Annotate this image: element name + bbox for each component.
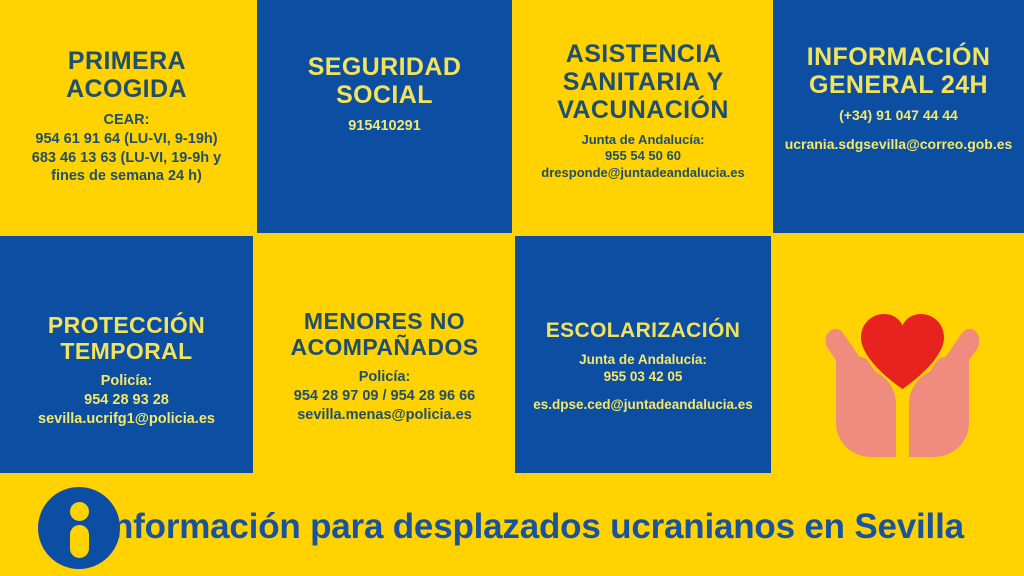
card-primera-acogida: PRIMERA ACOGIDA CEAR: 954 61 91 64 (LU-V… xyxy=(0,0,253,233)
card-content: PRIMERA ACOGIDA CEAR: 954 61 91 64 (LU-V… xyxy=(8,47,245,185)
poster-root: PRIMERA ACOGIDA CEAR: 954 61 91 64 (LU-V… xyxy=(0,0,1024,576)
card-body: Policía: 954 28 97 09 / 954 28 96 66 sev… xyxy=(265,368,504,424)
card-body-line: 954 28 93 28 xyxy=(8,391,245,410)
card-body-line: ucrania.sdgsevilla@correo.gob.es xyxy=(781,136,1016,154)
card-content: PROTECCIÓN TEMPORAL Policía: 954 28 93 2… xyxy=(8,313,245,428)
card-body: Junta de Andalucía: 955 03 42 05 es.dpse… xyxy=(533,351,753,414)
card-title-line: GENERAL 24H xyxy=(809,71,988,99)
card-body-line: 954 61 91 64 (LU-VI, 9-19h) xyxy=(8,130,245,149)
card-body-line: Policía: xyxy=(265,368,504,387)
card-body: (+34) 91 047 44 44 ucrania.sdgsevilla@co… xyxy=(781,107,1016,154)
card-content: SEGURIDAD SOCIAL 915410291 xyxy=(265,53,504,136)
card-body-line: sevilla.ucrifg1@policia.es xyxy=(8,410,245,429)
card-title: MENORES NO ACOMPAÑADOS xyxy=(265,309,504,361)
card-body-line: 683 46 13 63 (LU-VI, 19-9h y xyxy=(8,149,245,168)
card-content: ASISTENCIA SANITARIA Y VACUNACIÓN Junta … xyxy=(523,40,763,182)
card-body-line: 955 03 42 05 xyxy=(533,368,753,385)
card-title: ASISTENCIA SANITARIA Y VACUNACIÓN xyxy=(523,40,763,124)
card-title-line: PROTECCIÓN xyxy=(48,312,205,338)
card-body-line: Junta de Andalucía: xyxy=(533,351,753,368)
card-seguridad-social: SEGURIDAD SOCIAL 915410291 xyxy=(257,0,512,233)
card-body-line: 954 28 97 09 / 954 28 96 66 xyxy=(265,387,504,406)
card-body: 915410291 xyxy=(265,117,504,136)
card-title-line: ESCOLARIZACIÓN xyxy=(546,319,741,342)
card-title-line: SEGURIDAD xyxy=(308,53,462,81)
banner-headline: nformación para desplazados ucranianos e… xyxy=(112,509,964,544)
card-title-line: SOCIAL xyxy=(336,81,433,109)
card-body-line: Junta de Andalucía: xyxy=(523,132,763,149)
hands-holding-heart-icon xyxy=(800,300,1005,472)
card-title-line: MENORES NO xyxy=(304,308,465,334)
card-title-line: ACOMPAÑADOS xyxy=(291,334,479,360)
card-body-line: Policía: xyxy=(8,372,245,391)
info-circle-icon xyxy=(38,487,120,569)
card-menores-no-acompanados: MENORES NO ACOMPAÑADOS Policía: 954 28 9… xyxy=(257,236,512,473)
card-escolarizacion: ESCOLARIZACIÓN Junta de Andalucía: 955 0… xyxy=(515,236,771,473)
info-icon-stem xyxy=(70,525,89,558)
card-body-line: 955 54 50 60 xyxy=(523,148,763,165)
info-icon-dot xyxy=(70,502,89,521)
card-content: ESCOLARIZACIÓN Junta de Andalucía: 955 0… xyxy=(533,319,753,413)
card-body: CEAR: 954 61 91 64 (LU-VI, 9-19h) 683 46… xyxy=(8,111,245,185)
card-body-line: (+34) 91 047 44 44 xyxy=(781,107,1016,125)
card-title-line: ASISTENCIA xyxy=(566,40,720,68)
card-content: INFORMACIÓN GENERAL 24H (+34) 91 047 44 … xyxy=(781,43,1016,154)
card-body-line: fines de semana 24 h) xyxy=(8,167,245,186)
card-body-line: CEAR: xyxy=(8,111,245,130)
card-body-line: es.dpse.ced@juntadeandalucia.es xyxy=(533,396,753,413)
card-title-line: PRIMERA xyxy=(68,47,185,75)
card-content: MENORES NO ACOMPAÑADOS Policía: 954 28 9… xyxy=(265,309,504,424)
card-title: INFORMACIÓN GENERAL 24H xyxy=(781,43,1016,99)
card-title: ESCOLARIZACIÓN xyxy=(533,319,753,343)
card-title-line: ACOGIDA xyxy=(66,75,187,103)
card-title-line: VACUNACIÓN xyxy=(557,96,729,124)
card-title: PRIMERA ACOGIDA xyxy=(8,47,245,103)
card-body: Policía: 954 28 93 28 sevilla.ucrifg1@po… xyxy=(8,372,245,428)
card-informacion-general: INFORMACIÓN GENERAL 24H (+34) 91 047 44 … xyxy=(773,0,1024,233)
card-title-line: SANITARIA Y xyxy=(563,68,723,96)
card-body: Junta de Andalucía: 955 54 50 60 drespon… xyxy=(523,132,763,182)
card-asistencia-sanitaria: ASISTENCIA SANITARIA Y VACUNACIÓN Junta … xyxy=(515,0,771,233)
card-title: SEGURIDAD SOCIAL xyxy=(265,53,504,109)
card-title-line: TEMPORAL xyxy=(60,338,192,364)
card-title-line: INFORMACIÓN xyxy=(807,43,991,71)
card-body-line: 915410291 xyxy=(265,117,504,136)
card-title: PROTECCIÓN TEMPORAL xyxy=(8,313,245,365)
bottom-banner: nformación para desplazados ucranianos e… xyxy=(0,476,1024,576)
card-body-line: sevilla.menas@policia.es xyxy=(265,406,504,425)
card-proteccion-temporal: PROTECCIÓN TEMPORAL Policía: 954 28 93 2… xyxy=(0,236,253,473)
card-body-line: dresponde@juntadeandalucia.es xyxy=(523,165,763,182)
